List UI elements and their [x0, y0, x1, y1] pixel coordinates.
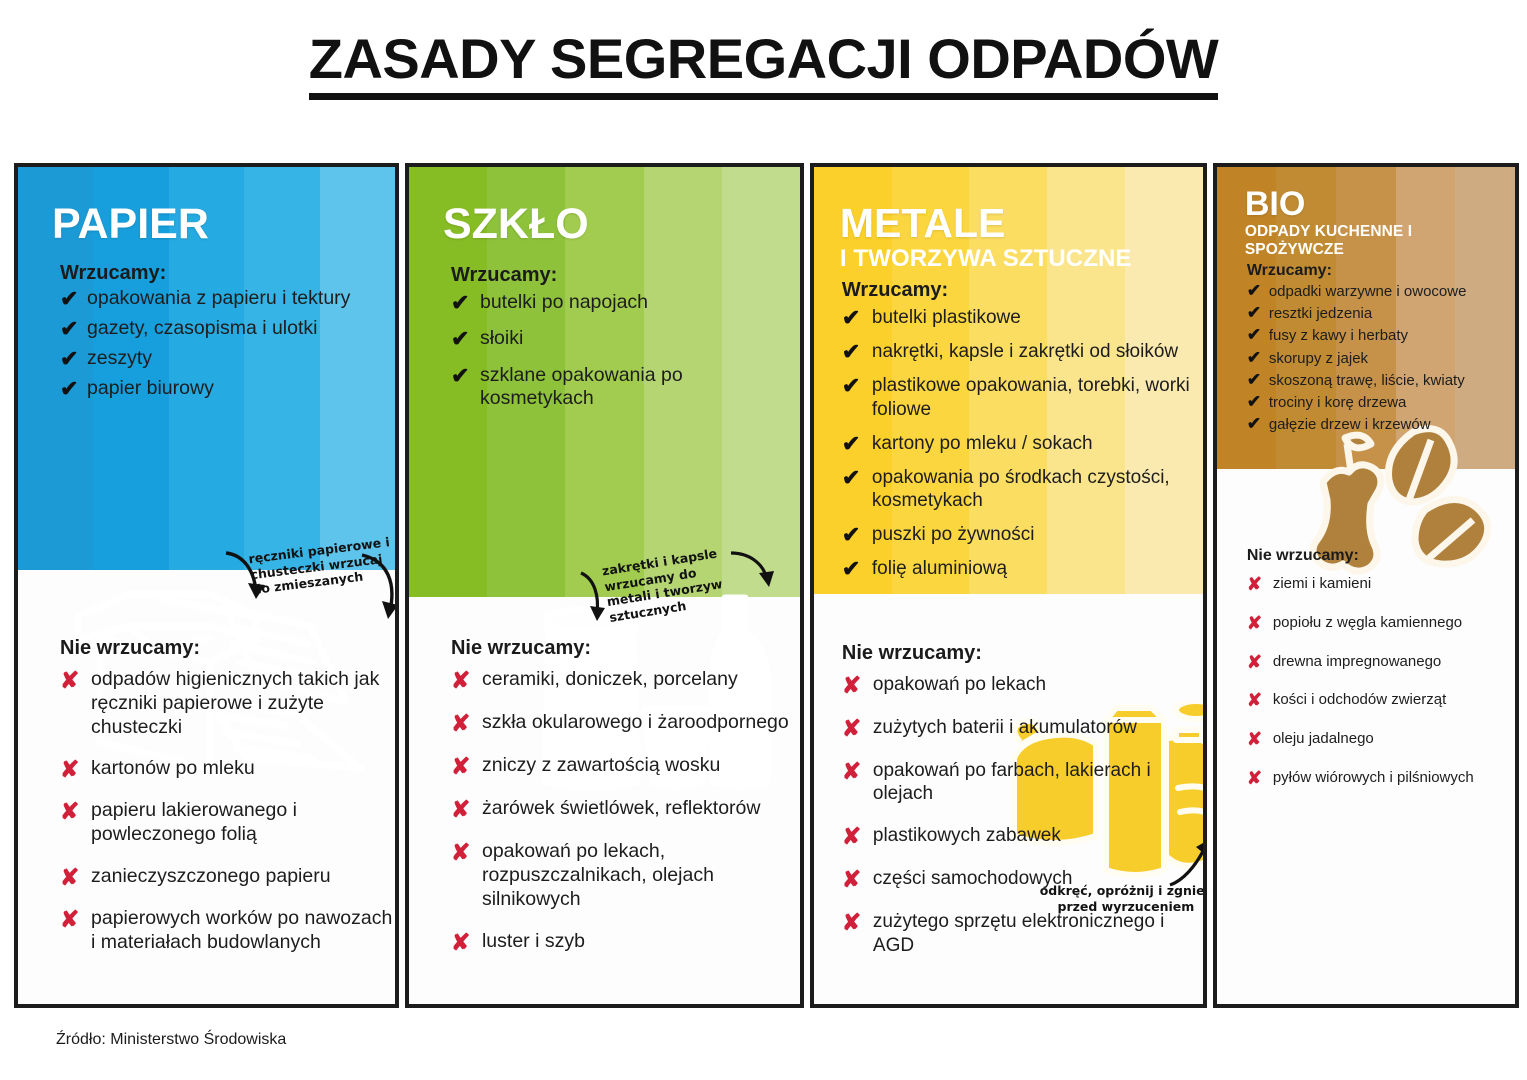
cross-icon: ✘ — [60, 866, 91, 889]
cross-icon: ✘ — [451, 931, 482, 954]
glass-accept-list: ✔butelki po napojach ✔słoiki ✔szklane op… — [409, 291, 800, 411]
list-item-label: zużytego sprzętu elektronicznego i AGD — [873, 910, 1203, 956]
check-icon: ✔ — [60, 378, 87, 400]
bio-reject-lead: Nie wrzucamy: — [1217, 547, 1515, 575]
list-item-label: pyłów wiórowych i pilśniowych — [1273, 769, 1474, 788]
list-item: ✘żarówek świetlówek, reflektorów — [451, 797, 800, 821]
glass-accept-lead: Wrzucamy: — [409, 246, 800, 291]
list-item-label: skoszoną trawę, liście, kwiaty — [1269, 371, 1465, 390]
panel-subtitle-bio: ODPADY KUCHENNE I SPOŻYWCZE — [1217, 221, 1515, 259]
list-item-label: kartonów po mleku — [91, 757, 255, 781]
bio-content: BIO ODPADY KUCHENNE I SPOŻYWCZE Wrzucamy… — [1217, 167, 1515, 434]
check-icon: ✔ — [1247, 415, 1269, 432]
glass-reject-block: Nie wrzucamy: ✘ceramiki, doniczek, porce… — [409, 637, 800, 973]
cross-icon: ✘ — [451, 669, 482, 692]
list-item-label: opakowań po farbach, lakierach i olejach — [873, 759, 1203, 805]
list-item-label: papieru lakierowanego i powleczonego fol… — [91, 799, 395, 847]
list-item: ✘luster i szyb — [451, 930, 800, 954]
list-item: ✘odpadów higienicznych takich jak ręczni… — [60, 668, 395, 739]
list-item-label: szkła okularowego i żaroodpornego — [482, 711, 789, 735]
cross-icon: ✘ — [60, 908, 91, 931]
check-icon: ✔ — [842, 558, 872, 580]
cross-icon: ✘ — [842, 825, 873, 848]
list-item: ✘opakowań po lekach, rozpuszczalnikach, … — [451, 840, 800, 911]
note-arrow-right-icon — [354, 553, 399, 625]
check-icon: ✔ — [60, 288, 87, 310]
list-item: ✔zeszyty — [60, 347, 395, 370]
list-item: ✔butelki po napojach — [451, 291, 800, 314]
list-item: ✔folię aluminiową — [842, 557, 1203, 580]
check-icon: ✔ — [842, 433, 872, 455]
cross-icon: ✘ — [1247, 575, 1273, 593]
cross-icon: ✘ — [1247, 653, 1273, 671]
list-item: ✔gałęzie drzew i krzewów — [1247, 415, 1515, 434]
list-item: ✔kartony po mleku / sokach — [842, 432, 1203, 455]
note-arrow-left-icon — [220, 549, 272, 603]
list-item: ✘zużytego sprzętu elektronicznego i AGD — [842, 910, 1203, 956]
panel-glass: SZKŁO Wrzucamy: ✔butelki po napojach ✔sł… — [405, 163, 804, 1008]
check-icon: ✔ — [1247, 282, 1269, 299]
check-icon: ✔ — [60, 348, 87, 370]
infographic-page: ZASADY SEGREGACJI ODPADÓW — [0, 0, 1527, 1080]
list-item-label: popiołu z węgla kamiennego — [1273, 614, 1462, 633]
list-item: ✘zanieczyszczonego papieru — [60, 865, 395, 889]
bio-accept-lead: Wrzucamy: — [1217, 259, 1515, 282]
cross-icon: ✘ — [451, 755, 482, 778]
list-item: ✔papier biurowy — [60, 377, 395, 400]
list-item-label: opakowania po środkach czystości, kosmet… — [872, 466, 1203, 512]
list-item: ✘ceramiki, doniczek, porcelany — [451, 668, 800, 692]
list-item: ✔gazety, czasopisma i ulotki — [60, 317, 395, 340]
list-item-label: zużytych baterii i akumulatorów — [873, 716, 1137, 739]
list-item: ✘pyłów wiórowych i pilśniowych — [1247, 769, 1515, 788]
bio-accept-list: ✔odpadki warzywne i owocowe ✔resztki jed… — [1217, 282, 1515, 434]
panel-bio: BIO ODPADY KUCHENNE I SPOŻYWCZE Wrzucamy… — [1213, 163, 1519, 1008]
cross-icon: ✘ — [1247, 691, 1273, 709]
list-item: ✘papieru lakierowanego i powleczonego fo… — [60, 799, 395, 847]
panel-metal: METALE I TWORZYWA SZTUCZNE Wrzucamy: ✔bu… — [810, 163, 1207, 1008]
cross-icon: ✘ — [1247, 730, 1273, 748]
paper-accept-lead: Wrzucamy: — [18, 246, 395, 287]
list-item-label: odpadki warzywne i owocowe — [1269, 282, 1467, 301]
cross-icon: ✘ — [842, 911, 873, 934]
list-item-label: zeszyty — [87, 347, 152, 370]
list-item-label: opakowań po lekach, rozpuszczalnikach, o… — [482, 840, 800, 911]
check-icon: ✔ — [451, 292, 480, 314]
paper-reject-block: Nie wrzucamy: ✘odpadów higienicznych tak… — [18, 637, 395, 972]
list-item-label: kości i odchodów zwierząt — [1273, 691, 1446, 710]
cross-icon: ✘ — [451, 712, 482, 735]
list-item-label: luster i szyb — [482, 930, 585, 954]
list-item: ✔nakrętki, kapsle i zakrętki od słoików — [842, 340, 1203, 363]
list-item: ✘kości i odchodów zwierząt — [1247, 691, 1515, 710]
list-item-label: szklane opakowania po kosmetykach — [480, 364, 800, 411]
list-item: ✘opakowań po lekach — [842, 673, 1203, 697]
cross-icon: ✘ — [60, 758, 91, 781]
list-item-label: opakowania z papieru i tektury — [87, 287, 350, 310]
list-item: ✘popiołu z węgla kamiennego — [1247, 614, 1515, 633]
cross-icon: ✘ — [451, 798, 482, 821]
paper-reject-lead: Nie wrzucamy: — [18, 637, 395, 668]
panels-row: PAPIER Wrzucamy: ✔opakowania z papieru i… — [14, 163, 1519, 1008]
list-item-label: skorupy z jajek — [1269, 349, 1368, 368]
paper-content: PAPIER Wrzucamy: ✔opakowania z papieru i… — [18, 167, 395, 400]
list-item: ✘kartonów po mleku — [60, 757, 395, 781]
paper-accept-list: ✔opakowania z papieru i tektury ✔gazety,… — [18, 287, 395, 400]
list-item-label: kartony po mleku / sokach — [872, 432, 1093, 455]
glass-reject-list: ✘ceramiki, doniczek, porcelany ✘szkła ok… — [409, 668, 800, 954]
list-item: ✔fusy z kawy i herbaty — [1247, 326, 1515, 345]
list-item-label: opakowań po lekach — [873, 673, 1046, 696]
list-item-label: papier biurowy — [87, 377, 214, 400]
list-item: ✔opakowania po środkach czystości, kosme… — [842, 466, 1203, 512]
cross-icon: ✘ — [842, 674, 873, 697]
cross-icon: ✘ — [842, 760, 873, 783]
note-arrow-up-icon — [1166, 837, 1207, 889]
list-item: ✘ziemi i kamieni — [1247, 575, 1515, 594]
list-item-label: ziemi i kamieni — [1273, 575, 1371, 594]
check-icon: ✔ — [842, 375, 872, 397]
page-title-wrap: ZASADY SEGREGACJI ODPADÓW — [0, 26, 1527, 100]
list-item: ✔szklane opakowania po kosmetykach — [451, 364, 800, 411]
list-item: ✔opakowania z papieru i tektury — [60, 287, 395, 310]
list-item: ✔skoszoną trawę, liście, kwiaty — [1247, 371, 1515, 390]
check-icon: ✔ — [1247, 371, 1269, 388]
list-item: ✘oleju jadalnego — [1247, 730, 1515, 749]
check-icon: ✔ — [842, 524, 872, 546]
cross-icon: ✘ — [842, 868, 873, 891]
check-icon: ✔ — [1247, 304, 1269, 321]
panel-paper: PAPIER Wrzucamy: ✔opakowania z papieru i… — [14, 163, 399, 1008]
list-item: ✔trociny i korę drzewa — [1247, 393, 1515, 412]
list-item-label: butelki plastikowe — [872, 306, 1021, 329]
list-item: ✘zniczy z zawartością wosku — [451, 754, 800, 778]
list-item-label: papierowych worków po nawozach i materia… — [91, 907, 395, 955]
cross-icon: ✘ — [451, 841, 482, 864]
list-item-label: żarówek świetlówek, reflektorów — [482, 797, 761, 821]
list-item-label: zniczy z zawartością wosku — [482, 754, 720, 778]
list-item-label: oleju jadalnego — [1273, 730, 1374, 749]
list-item-label: folię aluminiową — [872, 557, 1007, 580]
bio-reject-block: Nie wrzucamy: ✘ziemi i kamieni ✘popiołu … — [1217, 547, 1515, 808]
list-item-label: drewna impregnowanego — [1273, 653, 1441, 672]
list-item-label: gałęzie drzew i krzewów — [1269, 415, 1431, 434]
list-item-label: odpadów higienicznych takich jak ręcznik… — [91, 668, 395, 739]
panel-title-paper: PAPIER — [18, 167, 395, 246]
cross-icon: ✘ — [60, 800, 91, 823]
list-item: ✘papierowych worków po nawozach i materi… — [60, 907, 395, 955]
glass-reject-lead: Nie wrzucamy: — [409, 637, 800, 668]
panel-subtitle-metal: I TWORZYWA SZTUCZNE — [814, 244, 1203, 273]
list-item-label: fusy z kawy i herbaty — [1269, 326, 1408, 345]
check-icon: ✔ — [1247, 349, 1269, 366]
panel-title-metal: METALE — [814, 167, 1203, 244]
bio-reject-list: ✘ziemi i kamieni ✘popiołu z węgla kamien… — [1217, 575, 1515, 788]
list-item: ✘drewna impregnowanego — [1247, 653, 1515, 672]
check-icon: ✔ — [60, 318, 87, 340]
check-icon: ✔ — [451, 365, 480, 387]
source-footer: Źródło: Ministerstwo Środowiska — [56, 1031, 286, 1049]
panel-title-bio: BIO — [1217, 167, 1515, 221]
metal-reject-lead: Nie wrzucamy: — [814, 642, 1203, 673]
list-item: ✘opakowań po farbach, lakierach i olejac… — [842, 759, 1203, 805]
list-item: ✔butelki plastikowe — [842, 306, 1203, 329]
check-icon: ✔ — [842, 341, 872, 363]
metal-content: METALE I TWORZYWA SZTUCZNE Wrzucamy: ✔bu… — [814, 167, 1203, 581]
glass-content: SZKŁO Wrzucamy: ✔butelki po napojach ✔sł… — [409, 167, 800, 411]
list-item: ✘zużytych baterii i akumulatorów — [842, 716, 1203, 740]
list-item: ✔plastikowe opakowania, torebki, worki f… — [842, 374, 1203, 420]
panel-title-glass: SZKŁO — [409, 167, 800, 246]
list-item: ✔skorupy z jajek — [1247, 349, 1515, 368]
list-item-label: ceramiki, doniczek, porcelany — [482, 668, 738, 692]
list-item: ✔odpadki warzywne i owocowe — [1247, 282, 1515, 301]
cross-icon: ✘ — [842, 717, 873, 740]
list-item-label: plastikowych zabawek — [873, 824, 1061, 847]
check-icon: ✔ — [1247, 326, 1269, 343]
list-item-label: słoiki — [480, 327, 523, 350]
list-item: ✔resztki jedzenia — [1247, 304, 1515, 323]
list-item: ✘szkła okularowego i żaroodpornego — [451, 711, 800, 735]
metal-accept-lead: Wrzucamy: — [814, 273, 1203, 306]
cross-icon: ✘ — [1247, 769, 1273, 787]
list-item: ✔słoiki — [451, 327, 800, 350]
check-icon: ✔ — [1247, 393, 1269, 410]
list-item-label: plastikowe opakowania, torebki, worki fo… — [872, 374, 1203, 420]
list-item-label: trociny i korę drzewa — [1269, 393, 1407, 412]
list-item: ✔puszki po żywności — [842, 523, 1203, 546]
list-item-label: puszki po żywności — [872, 523, 1035, 546]
metal-reject-block: Nie wrzucamy: ✘opakowań po lekach ✘zużyt… — [814, 642, 1203, 976]
list-item: ✘plastikowych zabawek — [842, 824, 1203, 848]
list-item-label: zanieczyszczonego papieru — [91, 865, 331, 889]
cross-icon: ✘ — [1247, 614, 1273, 632]
list-item-label: resztki jedzenia — [1269, 304, 1372, 323]
list-item-label: butelki po napojach — [480, 291, 648, 314]
metal-accept-list: ✔butelki plastikowe ✔nakrętki, kapsle i … — [814, 306, 1203, 581]
list-item-label: nakrętki, kapsle i zakrętki od słoików — [872, 340, 1178, 363]
cross-icon: ✘ — [60, 669, 91, 692]
paper-reject-list: ✘odpadów higienicznych takich jak ręczni… — [18, 668, 395, 954]
page-title: ZASADY SEGREGACJI ODPADÓW — [309, 26, 1219, 100]
check-icon: ✔ — [842, 467, 872, 489]
check-icon: ✔ — [842, 307, 872, 329]
note-arrow-left-icon — [577, 569, 613, 625]
list-item-label: gazety, czasopisma i ulotki — [87, 317, 318, 340]
check-icon: ✔ — [451, 328, 480, 350]
note-arrow-right-icon — [729, 549, 777, 593]
